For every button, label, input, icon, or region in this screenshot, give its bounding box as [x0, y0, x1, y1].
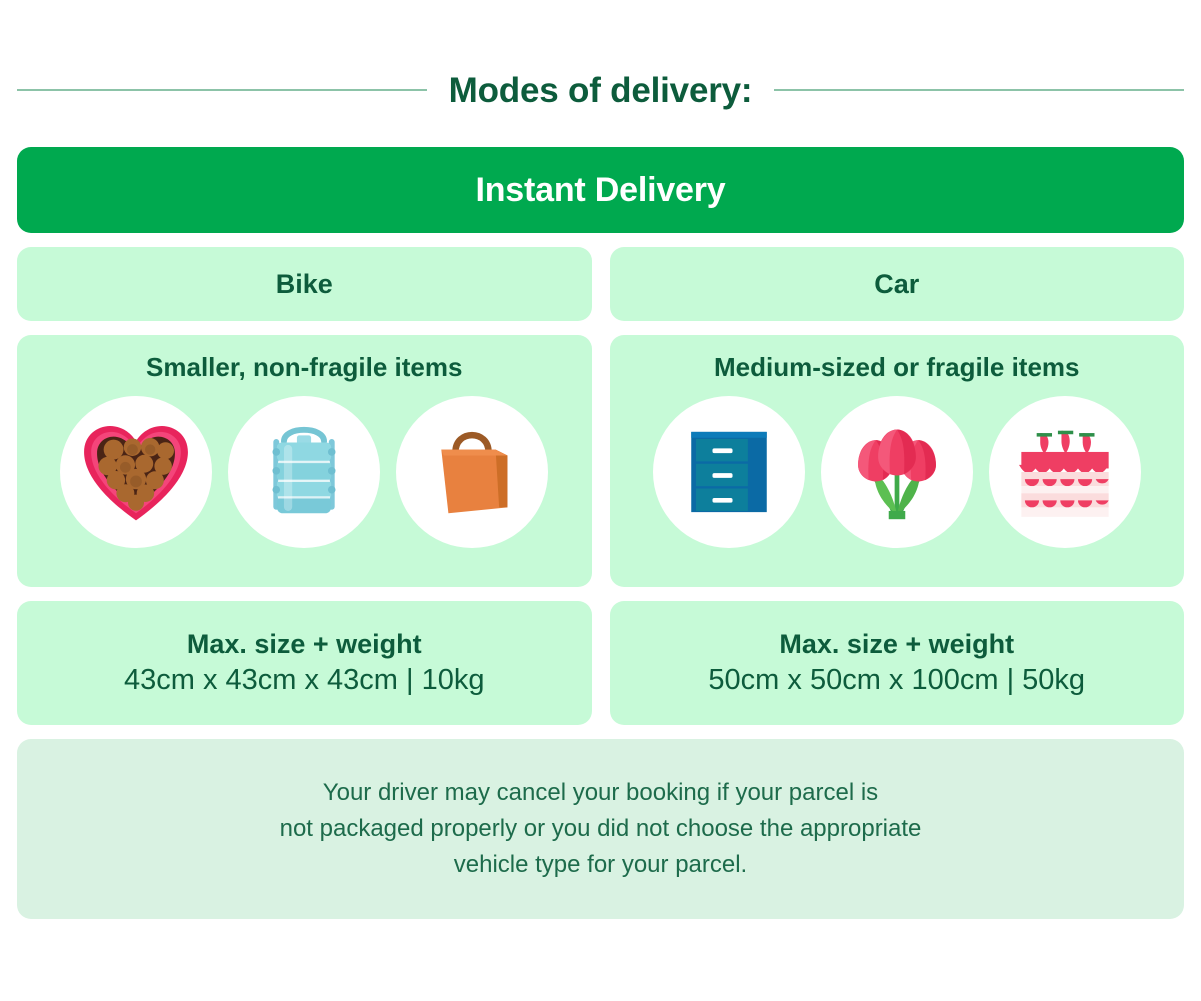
tiffin-carrier-icon [245, 413, 363, 531]
instant-delivery-banner: Instant Delivery [17, 147, 1184, 233]
tulips-icon [838, 413, 956, 531]
size-panel-car: Max. size + weight 50cm x 50cm x 100cm |… [610, 601, 1185, 725]
size-value-car: 50cm x 50cm x 100cm | 50kg [708, 662, 1085, 698]
cake-icon [1006, 413, 1124, 531]
icon-bubble-cake [989, 396, 1141, 548]
title-divider-right [774, 89, 1184, 91]
page-title: Modes of delivery: [443, 73, 759, 108]
icon-row-bike [60, 396, 548, 548]
disclaimer-line-1: Your driver may cancel your booking if y… [280, 775, 922, 811]
vehicle-header-car: Car [610, 247, 1185, 321]
vehicle-column-car: Car Medium-sized or fragile items [610, 247, 1185, 725]
page-title-row: Modes of delivery: [17, 0, 1184, 134]
icon-row-car [653, 396, 1141, 548]
vehicle-columns: Bike Smaller, non-fragile items [17, 247, 1184, 725]
size-title-bike: Max. size + weight [187, 628, 422, 660]
chocolate-box-icon [77, 413, 195, 531]
items-caption-bike: Smaller, non-fragile items [146, 353, 462, 382]
size-value-bike: 43cm x 43cm x 43cm | 10kg [124, 662, 485, 698]
modes-of-delivery-infographic: Modes of delivery: Instant Delivery Bike… [0, 0, 1201, 1001]
items-caption-car: Medium-sized or fragile items [714, 353, 1080, 382]
vehicle-column-bike: Bike Smaller, non-fragile items [17, 247, 592, 725]
disclaimer-panel: Your driver may cancel your booking if y… [17, 739, 1184, 919]
disclaimer-line-3: vehicle type for your parcel. [280, 847, 922, 883]
icon-bubble-shopping-bag [396, 396, 548, 548]
icon-bubble-tulips [821, 396, 973, 548]
icon-bubble-filing-cabinet [653, 396, 805, 548]
disclaimer-text: Your driver may cancel your booking if y… [280, 775, 922, 883]
size-title-car: Max. size + weight [779, 628, 1014, 660]
vehicle-header-bike: Bike [17, 247, 592, 321]
filing-cabinet-icon [670, 413, 788, 531]
icon-bubble-tiffin-carrier [228, 396, 380, 548]
disclaimer-line-2: not packaged properly or you did not cho… [280, 811, 922, 847]
vehicle-name-bike: Bike [276, 271, 333, 298]
title-divider-left [17, 89, 427, 91]
vehicle-name-car: Car [874, 271, 919, 298]
icon-bubble-chocolate-box [60, 396, 212, 548]
shopping-bag-icon [413, 413, 531, 531]
instant-delivery-label: Instant Delivery [475, 173, 725, 207]
size-panel-bike: Max. size + weight 43cm x 43cm x 43cm | … [17, 601, 592, 725]
items-panel-car: Medium-sized or fragile items [610, 335, 1185, 587]
items-panel-bike: Smaller, non-fragile items [17, 335, 592, 587]
